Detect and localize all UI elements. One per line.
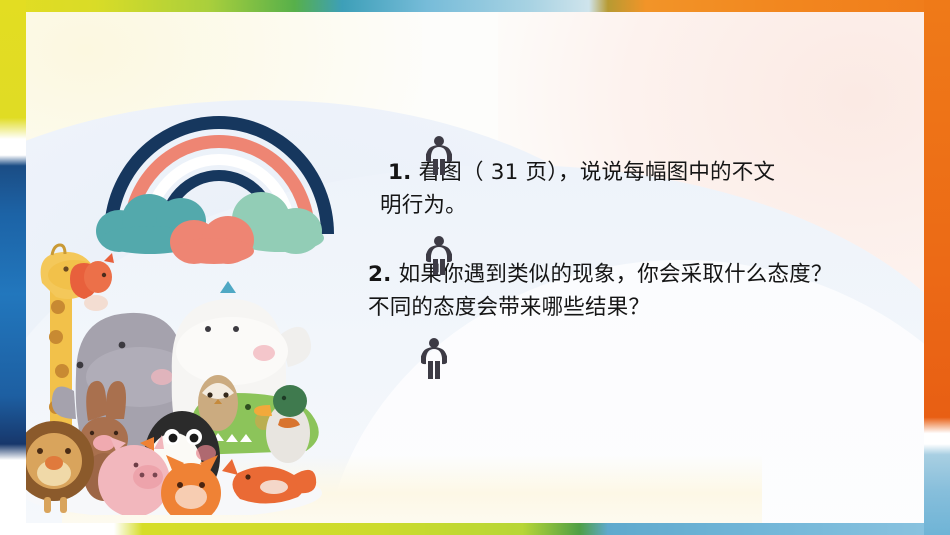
question-1-text-line-1: 看图（ 31 页），说说每幅图中的不文 — [419, 160, 776, 185]
question-1-number: 1. — [388, 160, 412, 185]
animal-illustration-group — [22, 225, 322, 515]
frame-strip-bottom — [0, 523, 950, 535]
question-2-number: 2. — [368, 262, 392, 287]
question-2-line-2: 不同的态度会带来哪些结果？ — [368, 291, 908, 324]
person-icon-3 — [421, 337, 447, 379]
slide-canvas: 1. 看图（ 31 页），说说每幅图中的不文 明行为。 2. 如果你遇到类似的现… — [0, 0, 950, 535]
person-icon-1 — [426, 135, 452, 175]
frame-strip-right — [924, 0, 950, 535]
question-1-line-2: 明行为。 — [380, 189, 908, 222]
frame-strip-top — [0, 0, 950, 12]
cat-icon — [161, 455, 221, 515]
slide-page-surface: 1. 看图（ 31 页），说说每幅图中的不文 明行为。 2. 如果你遇到类似的现… — [22, 10, 928, 525]
question-2-text-line-1: 如果你遇到类似的现象，你会采取什么态度？ — [399, 262, 833, 287]
person-icon-2 — [426, 235, 452, 275]
frame-strip-left — [0, 0, 26, 535]
question-1-line-1: 1. 看图（ 31 页），说说每幅图中的不文 — [388, 156, 908, 189]
